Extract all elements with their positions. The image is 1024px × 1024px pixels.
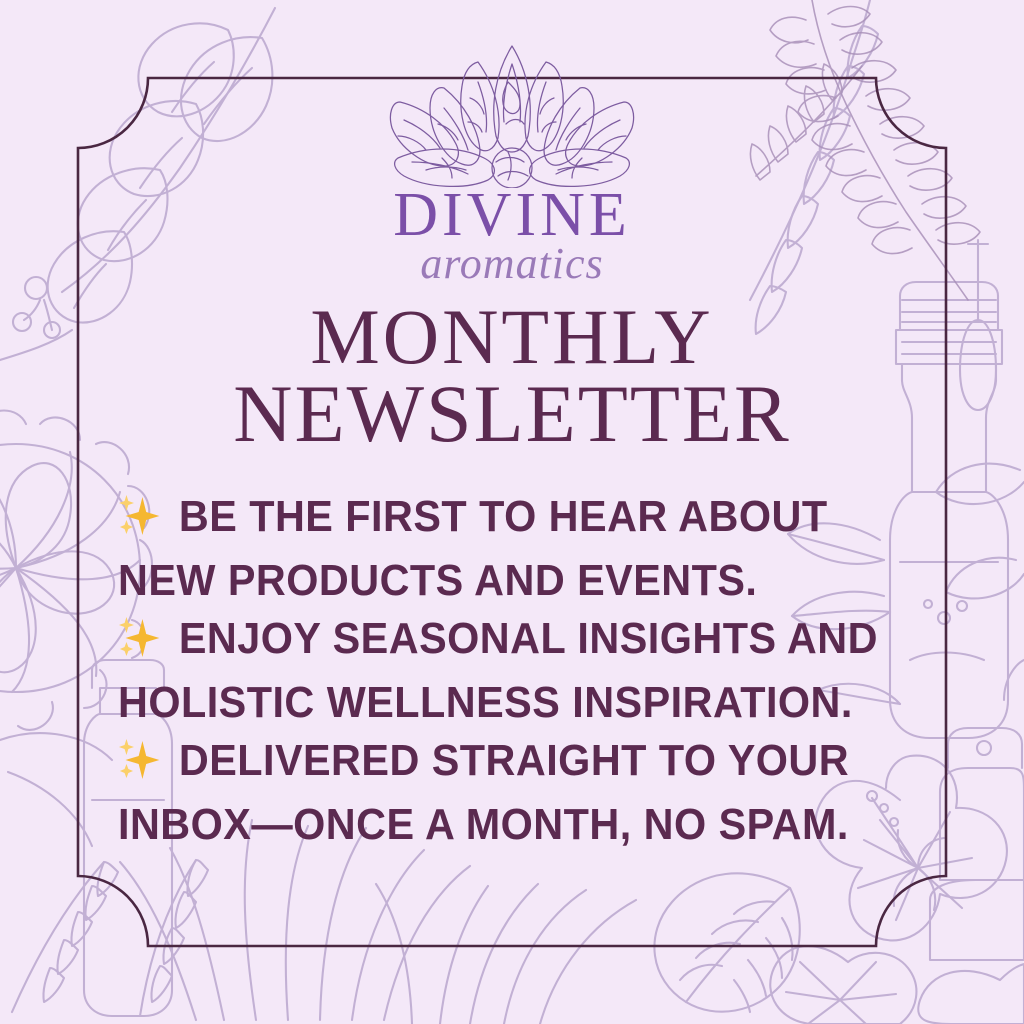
list-item: BE THE FIRST TO HEAR ABOUT NEW PRODUCTS … [118, 488, 889, 610]
newsletter-poster: DIVINE aromatics MONTHLY NEWSLETTER BE T… [0, 0, 1024, 1024]
lotus-mandala-icon [382, 38, 642, 188]
title-line-1: MONTHLY [310, 293, 713, 380]
list-item: ENJOY SEASONAL INSIGHTS AND HOLISTIC WEL… [118, 610, 889, 732]
brand-name: DIVINE [0, 184, 1024, 246]
list-item-text: BE THE FIRST TO HEAR ABOUT NEW PRODUCTS … [118, 492, 828, 605]
title-line-2: NEWSLETTER [0, 375, 1024, 454]
brand-tagline: aromatics [0, 242, 1024, 286]
benefits-list: BE THE FIRST TO HEAR ABOUT NEW PRODUCTS … [118, 488, 889, 854]
sparkles-icon [118, 737, 161, 796]
list-item-text: ENJOY SEASONAL INSIGHTS AND HOLISTIC WEL… [118, 614, 878, 727]
sparkles-icon [118, 493, 161, 552]
logo-lockup: DIVINE aromatics [0, 38, 1024, 286]
sparkles-icon [118, 615, 161, 674]
list-item: DELIVERED STRAIGHT TO YOUR INBOX—ONCE A … [118, 732, 889, 854]
list-item-text: DELIVERED STRAIGHT TO YOUR INBOX—ONCE A … [118, 736, 849, 849]
page-title: MONTHLY NEWSLETTER [0, 300, 1024, 454]
